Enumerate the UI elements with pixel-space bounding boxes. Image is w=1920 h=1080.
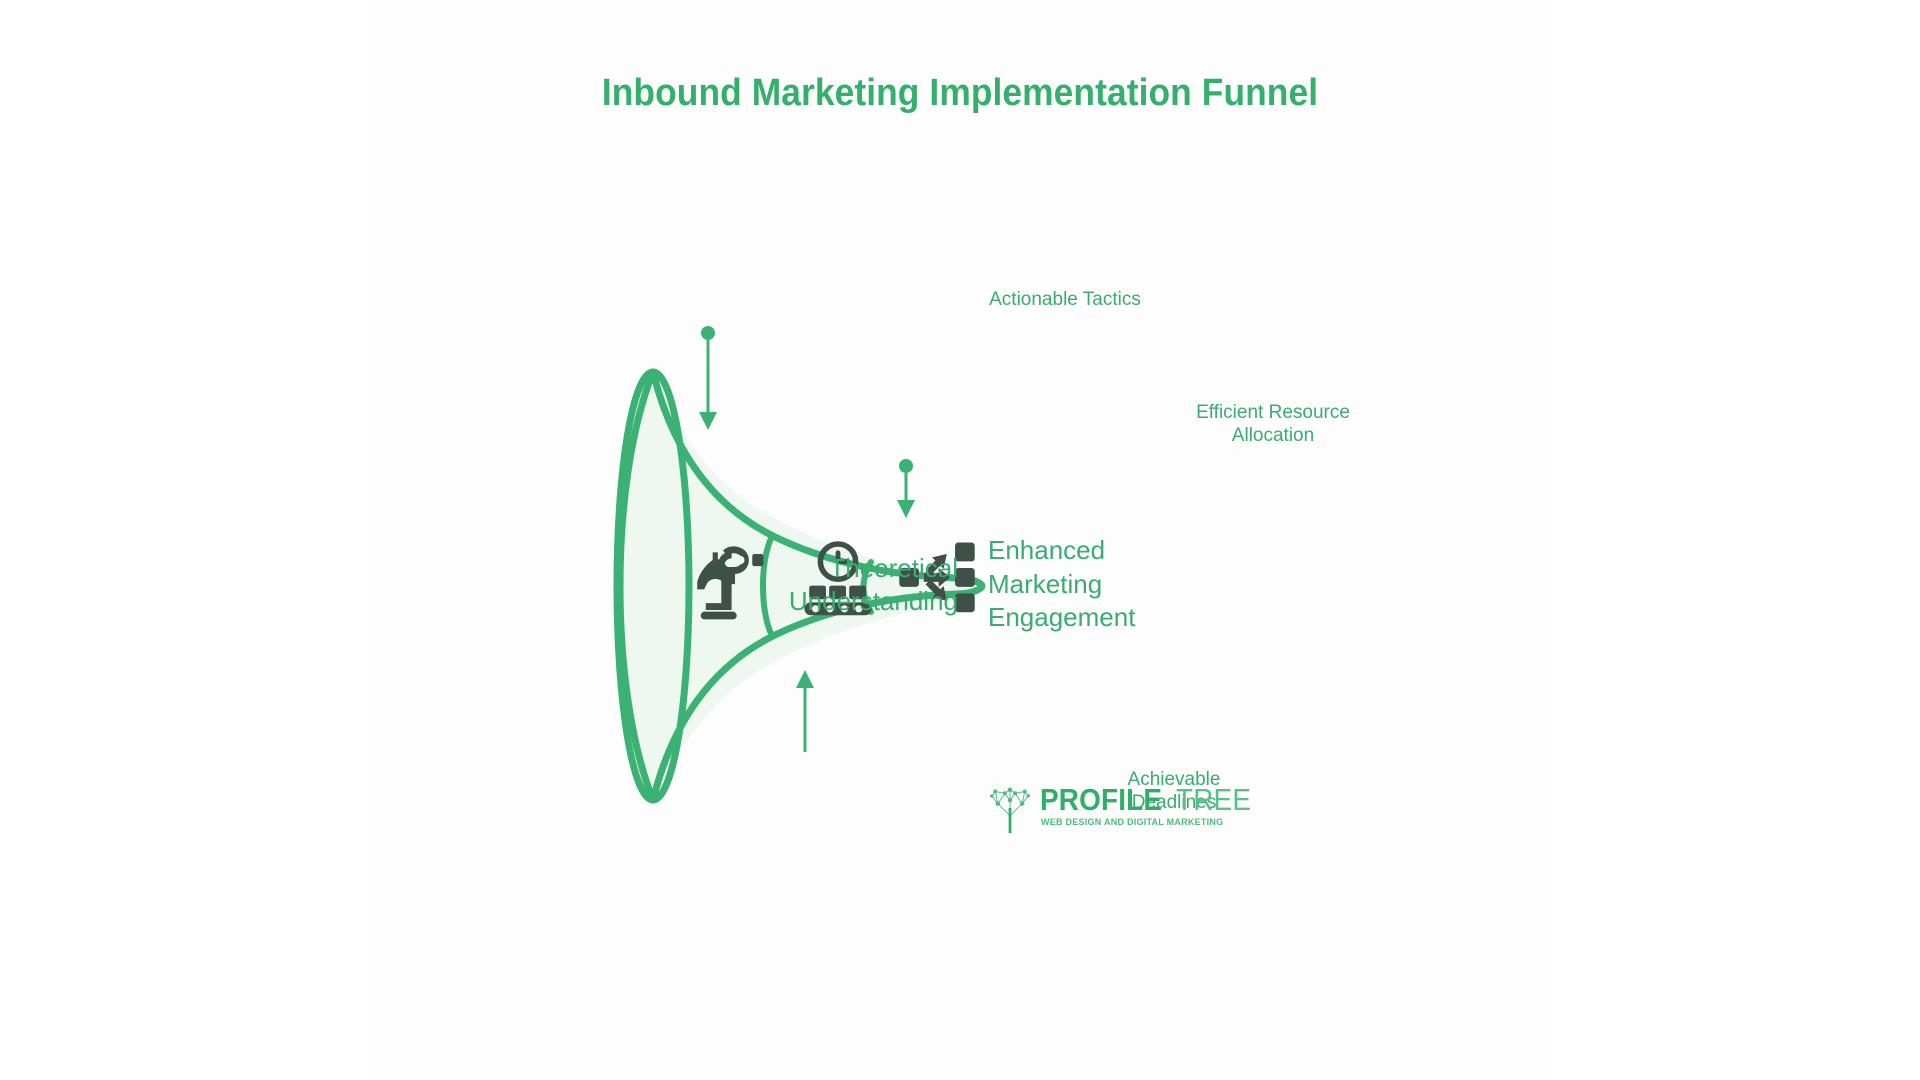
logo-tagline: WEB DESIGN AND DIGITAL MARKETING: [1041, 817, 1204, 828]
profiletree-wordmark: PROFILETREE: [1040, 783, 1210, 817]
callout-connector-efficient-resource-allocation: [897, 459, 915, 518]
funnel-input-label: Theoretical Understanding: [398, 552, 958, 618]
funnel-output-label: Enhanced Marketing Engagement: [988, 534, 1408, 635]
callout-connector-actionable-tactics: [699, 326, 717, 430]
callout-label-actionable-tactics: Actionable Tactics: [920, 288, 1210, 311]
page-title: Inbound Marketing Implementation Funnel: [409, 72, 1510, 115]
logo-name-secondary: TREE: [1176, 783, 1251, 817]
logo-name-primary: PROFILE: [1040, 783, 1162, 817]
callout-connector-achievable-deadlines: [796, 670, 814, 752]
network-tree-icon: [984, 781, 1036, 835]
profiletree-logo[interactable]: PROFILETREE WEB DESIGN AND DIGITAL MARKE…: [984, 779, 1210, 841]
callout-label-efficient-resource-allocation: Efficient Resource Allocation: [1128, 401, 1418, 447]
infographic-card: Inbound Marketing Implementation Funnel: [368, 0, 1552, 1080]
infographic-canvas: Inbound Marketing Implementation Funnel: [0, 0, 1920, 1080]
